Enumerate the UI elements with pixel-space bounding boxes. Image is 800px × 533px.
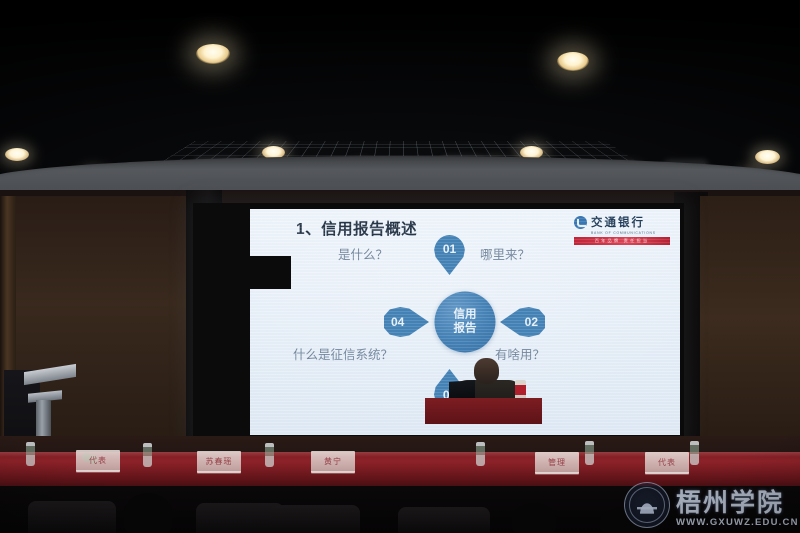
table-nameplate: 苏春瑶 — [197, 451, 241, 473]
head-table — [425, 398, 542, 424]
diagram-label-top-left: 是什么？ — [338, 244, 388, 263]
diagram-node-04: 04 — [384, 307, 429, 337]
center-label-line2: 报告 — [454, 322, 477, 336]
wall-panel-right — [700, 196, 800, 468]
nameplate-text: 管理 — [535, 457, 579, 468]
nameplate-text: 代表 — [645, 457, 689, 468]
laptop-icon — [449, 380, 475, 400]
screen-shadow-block — [193, 203, 250, 440]
watermark-name: 梧州学院 — [676, 483, 799, 519]
recessed-downlight-icon — [755, 150, 780, 164]
watermark-text: 梧州学院 WWW.GXUWZ.EDU.CN — [676, 483, 799, 528]
audience-head — [124, 493, 172, 533]
nameplate-text: 代表 — [76, 455, 120, 466]
water-bottle-icon — [690, 441, 699, 465]
audience-seat — [270, 505, 360, 533]
table-nameplate: 代表 — [645, 452, 689, 474]
diagram-center-node: 信用 报告 — [435, 292, 496, 353]
screen-shadow-notch — [250, 256, 291, 289]
recessed-downlight-icon — [557, 52, 589, 71]
watermark: 梧州学院 WWW.GXUWZ.EDU.CN — [624, 479, 796, 531]
node-number-01: 01 — [443, 242, 456, 256]
lectern-top — [24, 364, 76, 385]
table-nameplate: 管理 — [535, 452, 579, 474]
node-number-04: 04 — [391, 315, 404, 329]
center-label-line1: 信用 — [454, 309, 477, 323]
recessed-downlight-icon — [196, 44, 230, 64]
audience-head — [512, 503, 556, 533]
university-seal-icon — [624, 482, 670, 528]
speaker-head — [474, 358, 499, 384]
node-number-02: 02 — [525, 315, 538, 329]
photo-scene: 1、信用报告概述 交通银行 BANK OF COMMUNICATIONS 百年品… — [0, 0, 800, 533]
nameplate-text: 黄宁 — [311, 456, 355, 467]
table-nameplate: 黄宁 — [311, 451, 355, 473]
water-bottle-icon — [476, 442, 485, 466]
table-nameplate: 代表 — [76, 450, 120, 472]
water-bottle-icon — [26, 442, 35, 466]
water-bottle-icon — [585, 441, 594, 465]
water-bottle-icon — [265, 443, 274, 467]
recessed-downlight-icon — [5, 148, 29, 161]
diagram-node-01: 01 — [434, 235, 465, 275]
watermark-url: WWW.GXUWZ.EDU.CN — [676, 517, 799, 528]
diagram-label-top-right: 哪里来？ — [480, 244, 530, 263]
water-bottle-icon — [143, 443, 152, 467]
diagram-label-bottom-left: 什么是征信系统？ — [293, 344, 393, 363]
speaker-bottle-icon — [515, 380, 526, 400]
audience-seat — [28, 501, 116, 533]
audience-seat — [398, 507, 490, 533]
diagram-node-02: 02 — [500, 307, 545, 337]
nameplate-text: 苏春瑶 — [197, 456, 241, 467]
